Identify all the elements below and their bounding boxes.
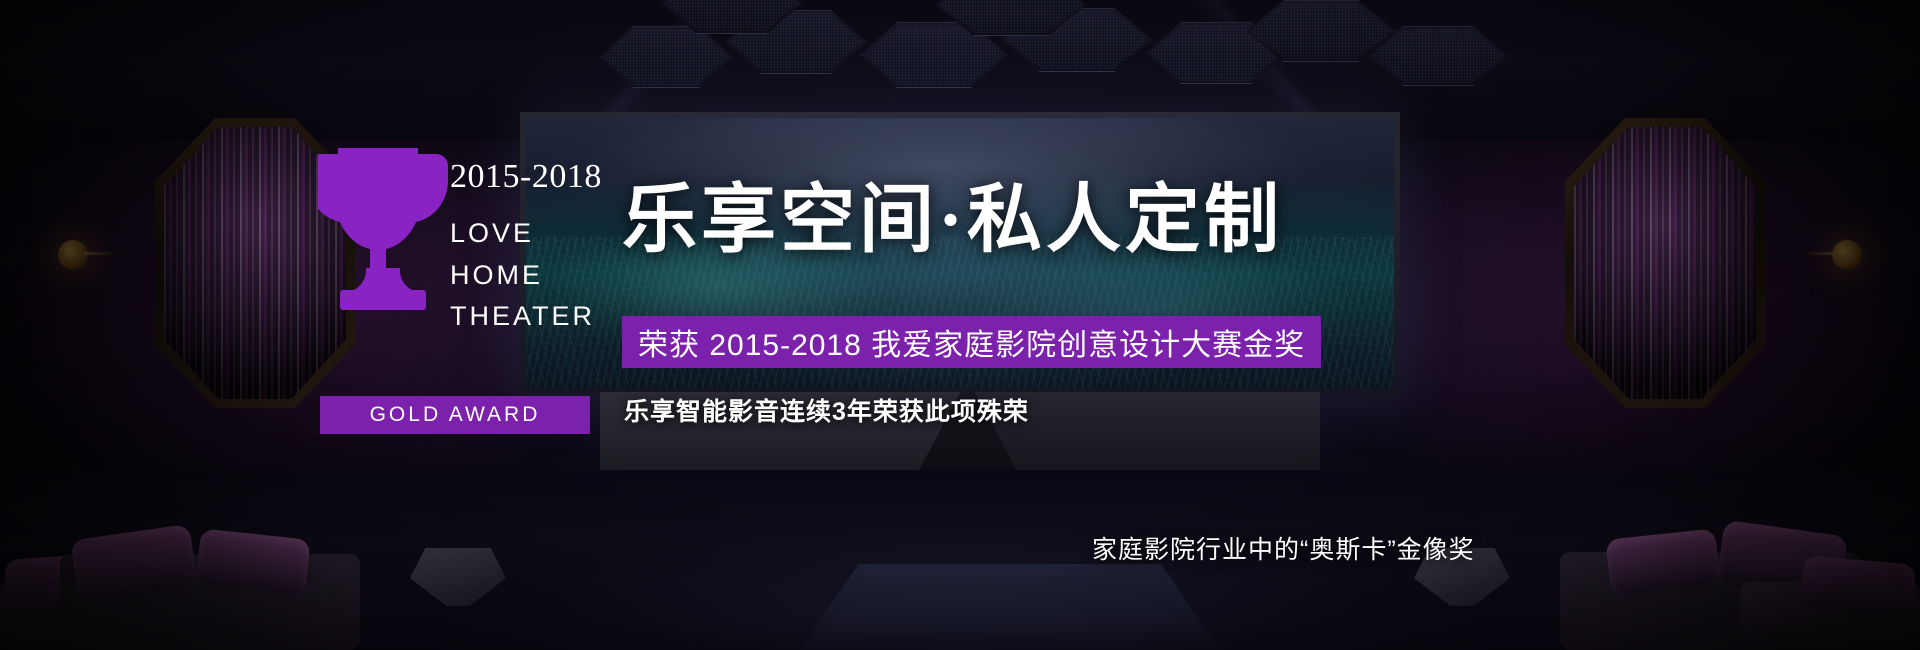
trophy-icon: [318, 140, 448, 315]
award-line-theater: THEATER: [450, 299, 620, 335]
gold-award-label: GOLD AWARD: [370, 403, 541, 427]
award-emblem: 2015-2018 LOVE HOME THEATER: [318, 140, 618, 370]
caption: 家庭影院行业中的“奥斯卡”金像奖: [1092, 530, 1475, 566]
tagline: 乐享智能影音连续3年荣获此项殊荣: [624, 392, 1029, 428]
subtitle-highlight-bar: 荣获 2015-2018 我爱家庭影院创意设计大赛金奖: [622, 316, 1321, 368]
award-line-love: LOVE: [450, 216, 620, 252]
award-line-home: HOME: [450, 258, 620, 294]
banner-content: 2015-2018 LOVE HOME THEATER GOLD AWARD 乐…: [0, 0, 1920, 650]
headline: 乐享空间·私人定制: [622, 158, 1283, 267]
award-years: 2015-2018: [450, 160, 620, 194]
gold-award-badge: GOLD AWARD: [320, 396, 590, 434]
home-theater-promo-banner: 2015-2018 LOVE HOME THEATER GOLD AWARD 乐…: [0, 0, 1920, 650]
award-text-lines: 2015-2018 LOVE HOME THEATER: [450, 160, 620, 335]
subtitle-text: 荣获 2015-2018 我爱家庭影院创意设计大赛金奖: [638, 320, 1305, 364]
